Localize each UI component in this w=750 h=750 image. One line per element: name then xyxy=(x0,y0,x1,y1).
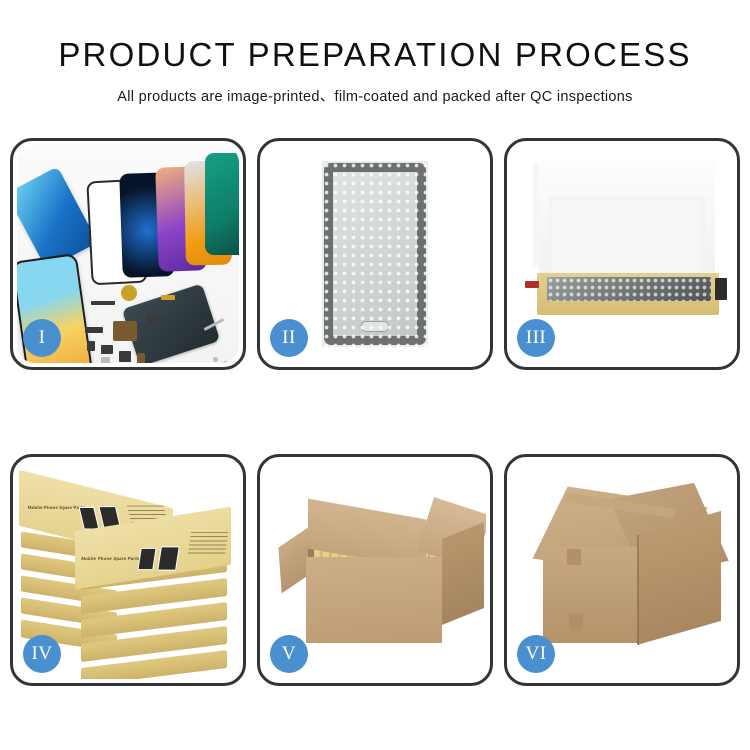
part-flex-3 xyxy=(87,341,95,351)
box-label-text: Mobile Phone Spare Parts xyxy=(81,556,140,561)
step-badge-5: V xyxy=(270,635,308,673)
step-5-image: V xyxy=(264,461,486,679)
box-label-text: Mobile Phone Spare Parts xyxy=(27,505,85,510)
process-step-1: I xyxy=(10,138,246,370)
step-badge-3: III xyxy=(517,319,555,357)
foam-liner xyxy=(549,197,705,279)
part-flex-1 xyxy=(91,301,115,305)
step-badge-6: VI xyxy=(517,635,555,673)
box-spec-lines xyxy=(188,532,229,554)
teal-gradient-phone xyxy=(205,153,239,255)
part-flex-5 xyxy=(147,315,165,323)
carton-tab-upper xyxy=(567,549,581,565)
box-art-screen xyxy=(157,546,180,570)
red-sticker xyxy=(525,281,539,288)
step-2-image: II xyxy=(264,145,486,363)
part-flex-4 xyxy=(101,345,113,354)
process-step-5: V xyxy=(257,454,493,686)
carton-front-face xyxy=(306,557,442,643)
part-camera xyxy=(119,351,131,362)
carton-side-face xyxy=(442,522,484,625)
part-screw-1 xyxy=(213,357,218,362)
step-badge-2: II xyxy=(270,319,308,357)
box-art-screen xyxy=(137,548,156,570)
carton-tab-lower xyxy=(569,613,583,631)
bubble-wrapped-screen xyxy=(322,161,428,347)
connector-strip xyxy=(715,278,727,300)
part-vibrator xyxy=(137,353,145,363)
page-subtitle: All products are image-printed、film-coat… xyxy=(0,85,750,106)
step-4-image: Mobile Phone Spare Parts Mobile Phone Sp… xyxy=(17,461,239,679)
part-screw-2 xyxy=(223,361,228,363)
process-step-4: Mobile Phone Spare Parts Mobile Phone Sp… xyxy=(10,454,246,686)
blue-phone-back xyxy=(17,166,98,269)
process-step-6: VI xyxy=(504,454,740,686)
page-title: PRODUCT PREPARATION PROCESS xyxy=(0,38,750,73)
step-badge-4: IV xyxy=(23,635,61,673)
part-chip-grid xyxy=(113,321,137,341)
carton-side-face xyxy=(637,511,721,645)
bubble-film-texture xyxy=(547,277,711,301)
wrapped-screen-inside xyxy=(547,277,711,301)
carton-front-face xyxy=(543,547,637,643)
step-1-image: I xyxy=(17,145,239,363)
page-header: PRODUCT PREPARATION PROCESS All products… xyxy=(0,0,750,106)
step-3-image: III xyxy=(511,145,733,363)
part-flex-2 xyxy=(85,327,103,333)
carton-corner-seam xyxy=(637,535,639,645)
part-speaker xyxy=(121,285,137,301)
part-sim-tray xyxy=(101,357,110,363)
process-grid: I II xyxy=(10,138,740,686)
bubble-film-texture xyxy=(322,161,428,347)
infographic-page: PRODUCT PREPARATION PROCESS All products… xyxy=(0,0,750,750)
step-6-image: VI xyxy=(511,461,733,679)
part-connector-1 xyxy=(161,295,175,300)
process-step-2: II xyxy=(257,138,493,370)
process-step-3: III xyxy=(504,138,740,370)
box-art-screen xyxy=(79,507,100,530)
step-badge-1: I xyxy=(23,319,61,357)
